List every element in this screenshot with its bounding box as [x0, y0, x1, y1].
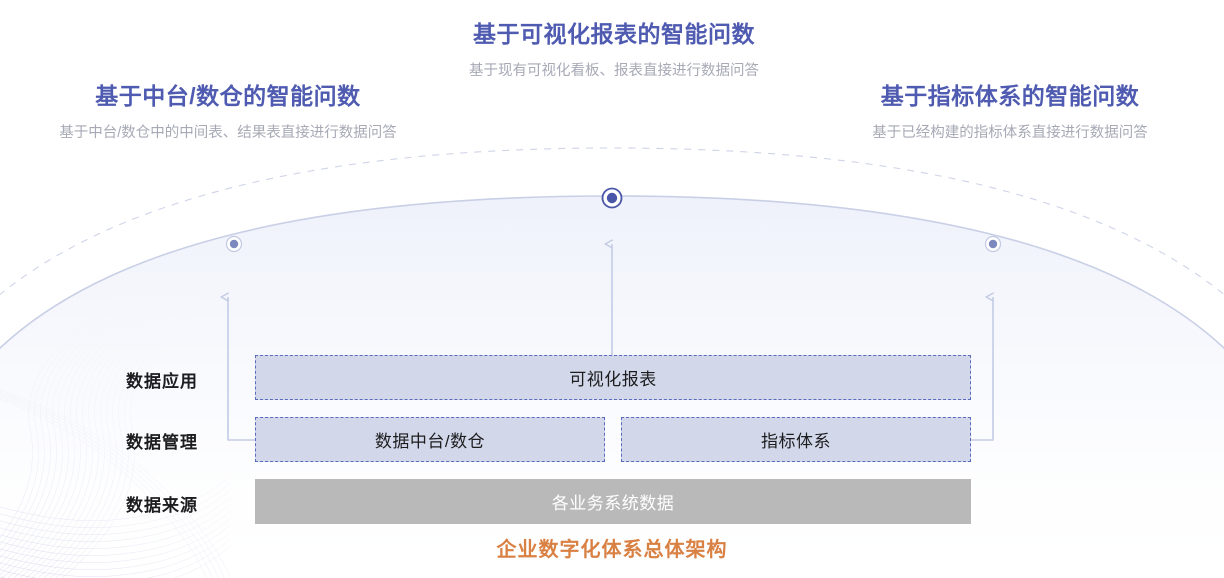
row-label-data-application: 数据应用: [126, 367, 198, 392]
callout-right-title: 基于指标体系的智能问数: [798, 82, 1222, 111]
callout-left: 基于中台/数仓的智能问数 基于中台/数仓中的中间表、结果表直接进行数据问答: [18, 82, 438, 143]
callout-middle: 基于可视化报表的智能问数 基于现有可视化看板、报表直接进行数据问答: [402, 20, 826, 81]
box-data-warehouse[interactable]: 数据中台/数仓: [255, 417, 605, 462]
box-source-systems[interactable]: 各业务系统数据: [255, 479, 971, 524]
callout-right-subtitle: 基于已经构建的指标体系直接进行数据问答: [798, 124, 1222, 143]
diagram-canvas: 基于中台/数仓的智能问数 基于中台/数仓中的中间表、结果表直接进行数据问答 基于…: [0, 0, 1224, 578]
row-label-data-management: 数据管理: [126, 428, 198, 453]
callout-left-title: 基于中台/数仓的智能问数: [18, 82, 438, 111]
box-metric-system[interactable]: 指标体系: [621, 417, 971, 462]
architecture-caption: 企业数字化体系总体架构: [0, 533, 1224, 562]
callout-middle-title: 基于可视化报表的智能问数: [402, 20, 826, 49]
box-visualization-report[interactable]: 可视化报表: [255, 355, 971, 400]
callout-right: 基于指标体系的智能问数 基于已经构建的指标体系直接进行数据问答: [798, 82, 1222, 143]
callout-middle-subtitle: 基于现有可视化看板、报表直接进行数据问答: [402, 62, 826, 81]
row-label-data-source: 数据来源: [126, 491, 198, 516]
callout-left-subtitle: 基于中台/数仓中的中间表、结果表直接进行数据问答: [18, 124, 438, 143]
